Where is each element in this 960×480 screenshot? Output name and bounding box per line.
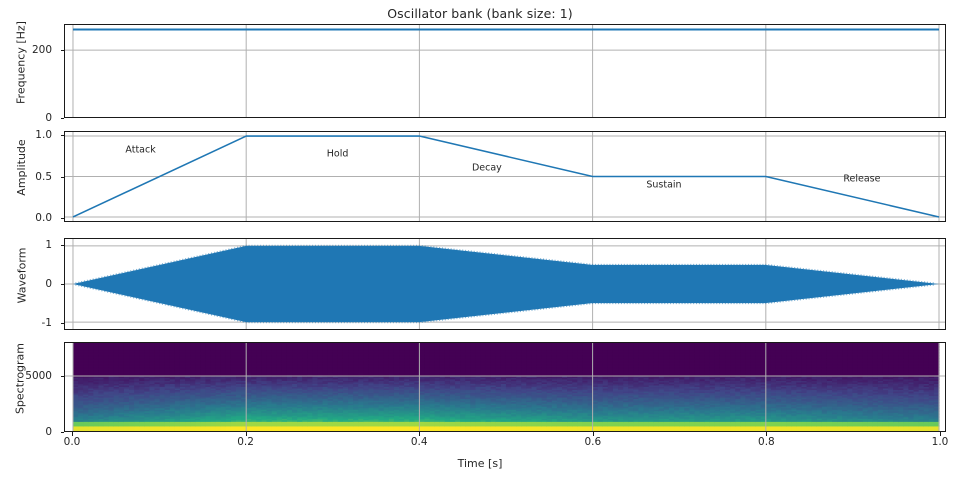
y-tick-label: 0.0: [35, 212, 52, 224]
phase-annotation: Decay: [472, 163, 502, 174]
amplitude-y-ticks: 0.00.51.0: [0, 131, 58, 222]
y-tick-label: 0: [45, 426, 52, 438]
waveform-chart: [65, 239, 945, 329]
x-tick-label: 0.4: [411, 436, 428, 448]
y-tick-mark: [61, 245, 65, 246]
x-tick-mark: [940, 432, 941, 436]
phase-annotation: Hold: [327, 149, 349, 160]
waveform-plot-area: [65, 239, 945, 329]
y-tick-label: 1: [45, 239, 52, 251]
x-tick-label: 0.2: [237, 436, 254, 448]
amplitude-plot-area: [65, 132, 945, 221]
frequency-line-chart: [65, 25, 945, 117]
y-tick-label: 1.0: [35, 129, 52, 141]
y-tick-mark: [61, 50, 65, 51]
y-tick-label: 0.5: [35, 171, 52, 183]
x-tick-label: 0.8: [758, 436, 775, 448]
frequency-y-ticks: 0200: [0, 24, 58, 118]
x-tick-label: 0.6: [584, 436, 601, 448]
phase-annotation: Attack: [125, 144, 155, 155]
y-tick-mark: [61, 323, 65, 324]
x-tick-mark: [72, 432, 73, 436]
y-tick-mark: [61, 135, 65, 136]
amplitude-envelope-chart: [65, 132, 945, 221]
y-tick-mark: [61, 432, 65, 433]
x-tick-label: 0.0: [64, 436, 81, 448]
subplot-waveform: [64, 238, 946, 330]
y-tick-label: 5000: [25, 370, 52, 382]
spectrogram-y-ticks: 05000: [0, 342, 58, 432]
figure-title: Oscillator bank (bank size: 1): [0, 6, 960, 21]
subplot-spectrogram: [64, 342, 946, 432]
x-axis-label: Time [s]: [0, 457, 960, 470]
spectrogram-plot-area: [65, 343, 945, 431]
y-tick-label: 200: [32, 44, 52, 56]
x-tick-mark: [766, 432, 767, 436]
x-tick-mark: [593, 432, 594, 436]
spectrogram-heatmap: [65, 343, 945, 431]
y-tick-mark: [61, 177, 65, 178]
y-tick-mark: [61, 218, 65, 219]
y-tick-mark: [61, 376, 65, 377]
y-tick-label: 0: [45, 112, 52, 124]
y-tick-label: 0: [45, 278, 52, 290]
x-tick-label: 1.0: [932, 436, 949, 448]
y-tick-mark: [61, 118, 65, 119]
x-tick-mark: [419, 432, 420, 436]
subplot-amplitude: [64, 131, 946, 222]
waveform-y-ticks: -101: [0, 238, 58, 330]
y-tick-mark: [61, 284, 65, 285]
x-tick-mark: [246, 432, 247, 436]
subplot-frequency: [64, 24, 946, 118]
phase-annotation: Release: [843, 173, 880, 184]
y-tick-label: -1: [42, 317, 52, 329]
matplotlib-figure: Oscillator bank (bank size: 1) Frequency…: [0, 0, 960, 480]
frequency-plot-area: [65, 25, 945, 117]
phase-annotation: Sustain: [646, 179, 681, 190]
